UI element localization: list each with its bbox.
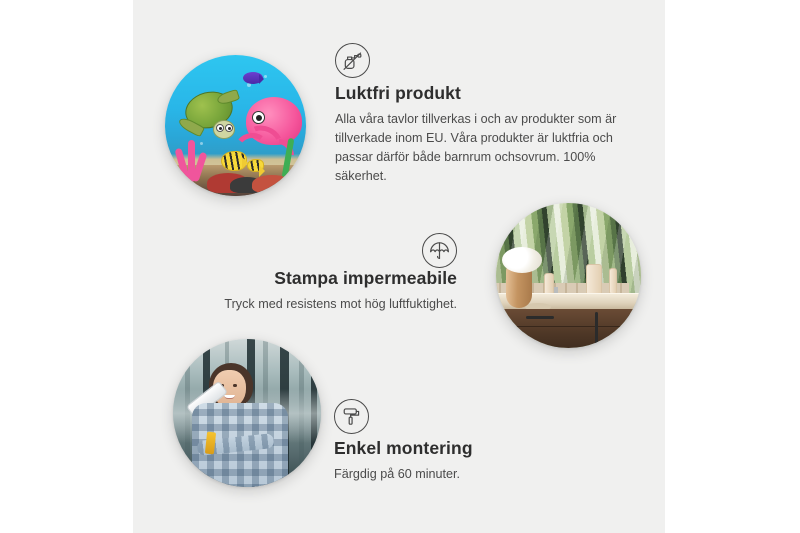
eye-icon xyxy=(233,384,237,387)
yellow-striped-fish-icon xyxy=(221,151,247,171)
toiletry-bottle-icon xyxy=(586,264,602,296)
wooden-vanity xyxy=(499,309,641,348)
purple-fish-icon xyxy=(243,72,263,84)
toiletry-bottle-icon xyxy=(544,273,554,295)
umbrella-icon xyxy=(422,233,457,268)
feature-description-odour-free: Alla våra tavlor tillverkas i och av pro… xyxy=(335,110,635,187)
drawer-divider xyxy=(499,326,641,328)
white-flowers-icon xyxy=(502,247,542,273)
yellow-tool-icon xyxy=(204,432,215,455)
paint-roller-icon xyxy=(334,399,369,434)
content-panel: Luktfri produkt Alla våra tavlor tillver… xyxy=(133,0,665,533)
yellow-striped-fish-icon xyxy=(247,159,264,172)
toiletry-bottle-icon xyxy=(609,268,617,294)
rock-icon xyxy=(252,175,292,193)
smile-icon xyxy=(224,395,235,399)
cabinet-handle-icon xyxy=(595,312,598,346)
drawer-handle-icon xyxy=(526,316,554,319)
no-odour-perfume-spray-icon xyxy=(335,43,370,78)
turtle-eye-icon xyxy=(216,124,224,132)
feature-description-easy-installation: Färgdig på 60 minuter. xyxy=(334,465,634,484)
feature-text-easy-installation: Enkel montering Färgdig på 60 minuter. xyxy=(334,438,634,484)
feature-title-easy-installation: Enkel montering xyxy=(334,438,634,460)
feature-description-waterproof-print: Tryck med resistens mot hög luftfuktighe… xyxy=(143,295,457,314)
feature-text-odour-free: Luktfri produkt Alla våra tavlor tillver… xyxy=(335,83,635,186)
feature-image-woman-with-paint-roller-forest[interactable] xyxy=(173,339,321,487)
feature-image-bathroom-leaf-wallpaper[interactable] xyxy=(496,203,641,348)
turtle-head-icon xyxy=(213,120,235,139)
bathroom-photo xyxy=(496,203,641,348)
octopus-eye-icon xyxy=(252,111,265,124)
underwater-illustration xyxy=(165,55,306,196)
turtle-eye-icon xyxy=(225,124,233,132)
feature-title-waterproof-print: Stampa impermeabile xyxy=(143,268,457,290)
feature-image-underwater-cartoon-scene[interactable] xyxy=(165,55,306,196)
screenshot-root: Luktfri produkt Alla våra tavlor tillver… xyxy=(0,0,800,533)
feature-text-waterproof-print: Stampa impermeabile Tryck med resistens … xyxy=(143,268,457,314)
feature-title-odour-free: Luktfri produkt xyxy=(335,83,635,105)
forest-wallpaper-photo xyxy=(173,339,321,487)
